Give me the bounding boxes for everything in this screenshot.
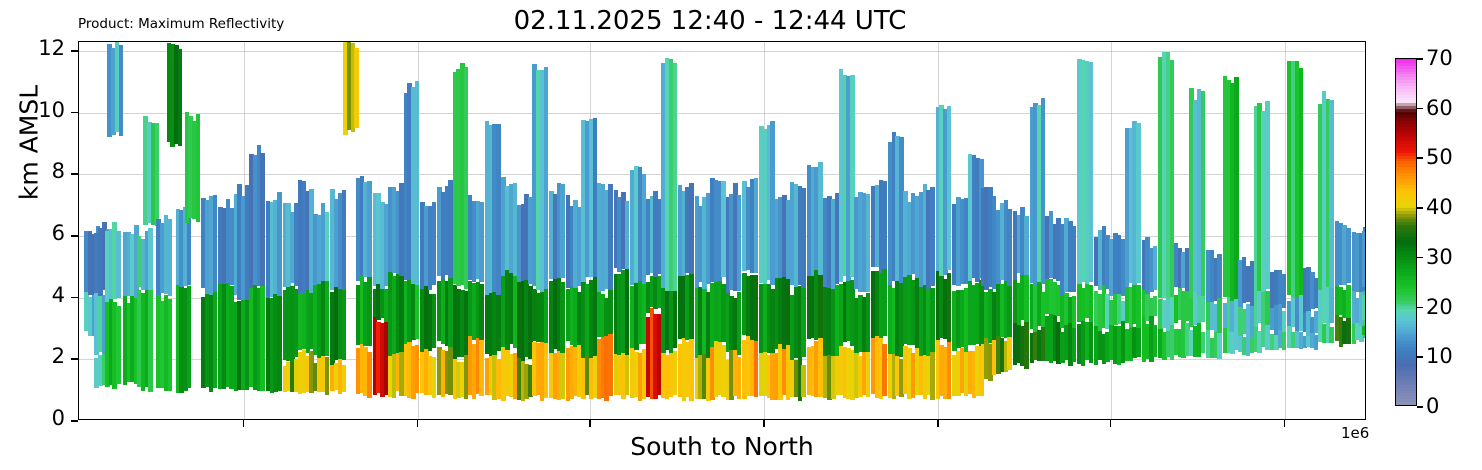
reflectivity-cell — [608, 290, 612, 334]
reflectivity-cell — [1007, 331, 1011, 370]
reflectivity-cell — [367, 277, 371, 346]
reflectivity-cell — [1362, 326, 1366, 335]
reflectivity-cell — [866, 293, 870, 352]
reflectivity-cell — [168, 299, 172, 392]
reflectivity-cell — [754, 178, 758, 273]
reflectivity-cell — [560, 282, 564, 353]
reflectivity-cell — [1346, 285, 1350, 318]
reflectivity-cell — [1153, 246, 1157, 289]
reflectivity-cell — [689, 183, 693, 273]
reflectivity-cell — [1217, 295, 1221, 333]
reflectivity-cell — [947, 338, 951, 400]
reflectivity-cell — [1329, 327, 1333, 343]
x-tick-mark — [417, 420, 419, 427]
y-tick-label: 8 — [0, 159, 65, 183]
reflectivity-cell — [882, 181, 886, 269]
reflectivity-cell — [213, 195, 217, 292]
reflectivity-cell — [432, 202, 436, 285]
product-annotation: Product: Maximum Reflectivity — [78, 16, 284, 32]
colorbar-tick-mark — [1417, 307, 1423, 309]
colorbar-tick-mark — [1417, 58, 1423, 60]
reflectivity-cell — [496, 124, 500, 295]
reflectivity-cell — [947, 273, 951, 343]
reflectivity-cell — [325, 281, 329, 355]
reflectivity-cell — [818, 336, 822, 397]
reflectivity-cell — [737, 292, 741, 355]
reflectivity-cell — [187, 286, 191, 389]
reflectivity-cell — [1153, 325, 1157, 357]
reflectivity-cell — [1089, 62, 1093, 282]
reflectivity-cell — [415, 345, 419, 393]
colorbar[interactable]: 706050403020100 — [1395, 58, 1417, 406]
reflectivity-cell — [737, 195, 741, 291]
reflectivity-cell — [342, 288, 346, 360]
reflectivity-cell — [325, 212, 329, 281]
reflectivity-cell — [1265, 291, 1269, 325]
radar-cross-section-figure: 02.11.2025 12:40 - 12:44 UTC Product: Ma… — [0, 0, 1482, 470]
reflectivity-cell — [1217, 333, 1221, 360]
x-tick-mark — [1110, 420, 1112, 427]
reflectivity-cell — [882, 267, 886, 336]
y-tick-label: 0 — [0, 406, 65, 430]
reflectivity-cell — [1136, 285, 1140, 328]
x-axis-label: South to North — [78, 432, 1366, 461]
reflectivity-cell — [196, 114, 200, 222]
reflectivity-cell — [432, 357, 436, 399]
reflectivity-cell — [625, 266, 629, 355]
reflectivity-cell — [1362, 231, 1366, 287]
reflectivity-cell — [689, 337, 693, 401]
reflectivity-cell — [673, 290, 677, 348]
reflectivity-cell — [947, 106, 951, 270]
reflectivity-cell — [544, 342, 548, 398]
y-tick-mark — [71, 235, 78, 237]
colorbar-tick-label: 70 — [1426, 46, 1453, 70]
colorbar-segment — [1396, 58, 1416, 60]
y-tick-label: 12 — [0, 36, 65, 60]
reflectivity-cell — [260, 285, 264, 391]
y-tick-mark — [71, 297, 78, 299]
reflectivity-cell — [213, 287, 217, 388]
reflectivity-cell — [496, 292, 500, 351]
reflectivity-cell — [754, 275, 758, 341]
plot-area — [78, 41, 1366, 420]
reflectivity-cell — [168, 219, 172, 296]
colorbar-tick-label: 50 — [1426, 145, 1453, 169]
colorbar-tick-label: 60 — [1426, 96, 1453, 120]
reflectivity-cell — [1072, 328, 1076, 362]
reflectivity-cell — [625, 201, 629, 269]
reflectivity-cell — [1282, 274, 1286, 308]
colorbar-gradient — [1395, 58, 1417, 406]
y-tick-label: 10 — [0, 98, 65, 122]
y-tick-mark — [71, 112, 78, 114]
reflectivity-cell — [930, 352, 934, 400]
y-tick-mark — [71, 173, 78, 175]
y-tick-label: 6 — [0, 221, 65, 245]
reflectivity-cell — [1024, 270, 1028, 321]
reflectivity-cell — [801, 365, 805, 397]
reflectivity-cell — [544, 284, 548, 342]
x-tick-mark — [937, 420, 939, 427]
reflectivity-cell — [1024, 216, 1028, 275]
reflectivity-cell — [1282, 311, 1286, 332]
reflectivity-cell — [1329, 283, 1333, 323]
y-tick-mark — [71, 420, 78, 422]
reflectivity-cell — [1072, 226, 1076, 292]
reflectivity-cell — [866, 348, 870, 396]
reflectivity-cell — [930, 187, 934, 285]
reflectivity-cell — [277, 295, 281, 390]
reflectivity-cell — [432, 294, 436, 348]
reflectivity-cell — [342, 190, 346, 290]
reflectivity-cell — [608, 333, 612, 396]
reflectivity-cell — [625, 351, 629, 394]
colorbar-tick-label: 0 — [1426, 394, 1439, 418]
reflectivity-cell — [354, 48, 358, 128]
reflectivity-cell — [1299, 68, 1303, 296]
reflectivity-cell — [673, 351, 677, 394]
reflectivity-cell — [801, 285, 805, 357]
y-tick-mark — [71, 50, 78, 52]
reflectivity-cell — [1282, 330, 1286, 349]
reflectivity-cell — [148, 286, 152, 392]
reflectivity-cell — [1201, 332, 1205, 353]
reflectivity-cell — [1007, 281, 1011, 337]
reflectivity-cell — [544, 67, 548, 288]
reflectivity-cell — [754, 338, 758, 398]
colorbar-tick-mark — [1417, 406, 1423, 408]
reflectivity-cell — [277, 192, 281, 295]
reflectivity-cell — [415, 284, 419, 339]
reflectivity-cell — [1089, 285, 1093, 322]
reflectivity-cell — [608, 184, 612, 289]
reflectivity-cell — [155, 123, 159, 226]
reflectivity-cell — [178, 49, 182, 146]
reflectivity-cell — [866, 194, 870, 293]
reflectivity-cell — [342, 365, 346, 391]
x-axis-offset-text: 1e6 — [1341, 424, 1369, 442]
colorbar-tick-mark — [1417, 207, 1423, 209]
x-tick-mark — [763, 420, 765, 427]
x-tick-mark — [243, 420, 245, 427]
y-tick-mark — [71, 358, 78, 360]
reflectivity-cell — [689, 267, 693, 340]
x-tick-mark — [589, 420, 591, 427]
reflectivity-cell — [367, 352, 371, 398]
reflectivity-cell — [1217, 254, 1221, 298]
reflectivity-cell — [479, 332, 483, 397]
colorbar-tick-label: 40 — [1426, 195, 1453, 219]
reflectivity-heatmap — [79, 42, 1365, 419]
reflectivity-cell — [479, 284, 483, 341]
reflectivity-cell — [119, 45, 123, 136]
reflectivity-cell — [882, 344, 886, 395]
reflectivity-cell — [1024, 321, 1028, 369]
reflectivity-cell — [367, 181, 371, 277]
colorbar-tick-label: 10 — [1426, 344, 1453, 368]
reflectivity-cell — [415, 81, 419, 285]
reflectivity-cell — [673, 63, 677, 291]
x-tick-mark — [1284, 420, 1286, 427]
reflectivity-cell — [1329, 100, 1333, 289]
colorbar-tick-mark — [1417, 157, 1423, 159]
colorbar-tick-label: 30 — [1426, 245, 1453, 269]
y-tick-label: 2 — [0, 344, 65, 368]
reflectivity-cell — [1201, 91, 1205, 297]
reflectivity-cell — [818, 273, 822, 337]
reflectivity-cell — [801, 188, 805, 288]
reflectivity-cell — [1007, 209, 1011, 285]
colorbar-tick-mark — [1417, 356, 1423, 358]
reflectivity-cell — [818, 162, 822, 275]
reflectivity-cell — [1136, 324, 1140, 357]
reflectivity-cell — [1072, 296, 1076, 327]
reflectivity-cell — [560, 347, 564, 399]
colorbar-tick-mark — [1417, 108, 1423, 110]
reflectivity-cell — [737, 357, 741, 399]
reflectivity-cell — [148, 228, 152, 290]
reflectivity-cell — [496, 359, 500, 399]
reflectivity-cell — [1265, 101, 1269, 288]
reflectivity-cell — [116, 306, 120, 384]
colorbar-tick-mark — [1417, 257, 1423, 259]
reflectivity-cell — [1362, 295, 1366, 321]
colorbar-tick-label: 20 — [1426, 295, 1453, 319]
y-axis-label: km AMSL — [15, 33, 44, 253]
reflectivity-cell — [1153, 296, 1157, 317]
reflectivity-cell — [479, 202, 483, 281]
y-tick-label: 4 — [0, 283, 65, 307]
reflectivity-cell — [560, 184, 564, 279]
reflectivity-cell — [260, 153, 264, 286]
reflectivity-cell — [1136, 123, 1140, 282]
reflectivity-cell — [930, 288, 934, 352]
reflectivity-cell — [1346, 228, 1350, 283]
reflectivity-cell — [116, 231, 120, 298]
reflectivity-cell — [325, 357, 329, 396]
